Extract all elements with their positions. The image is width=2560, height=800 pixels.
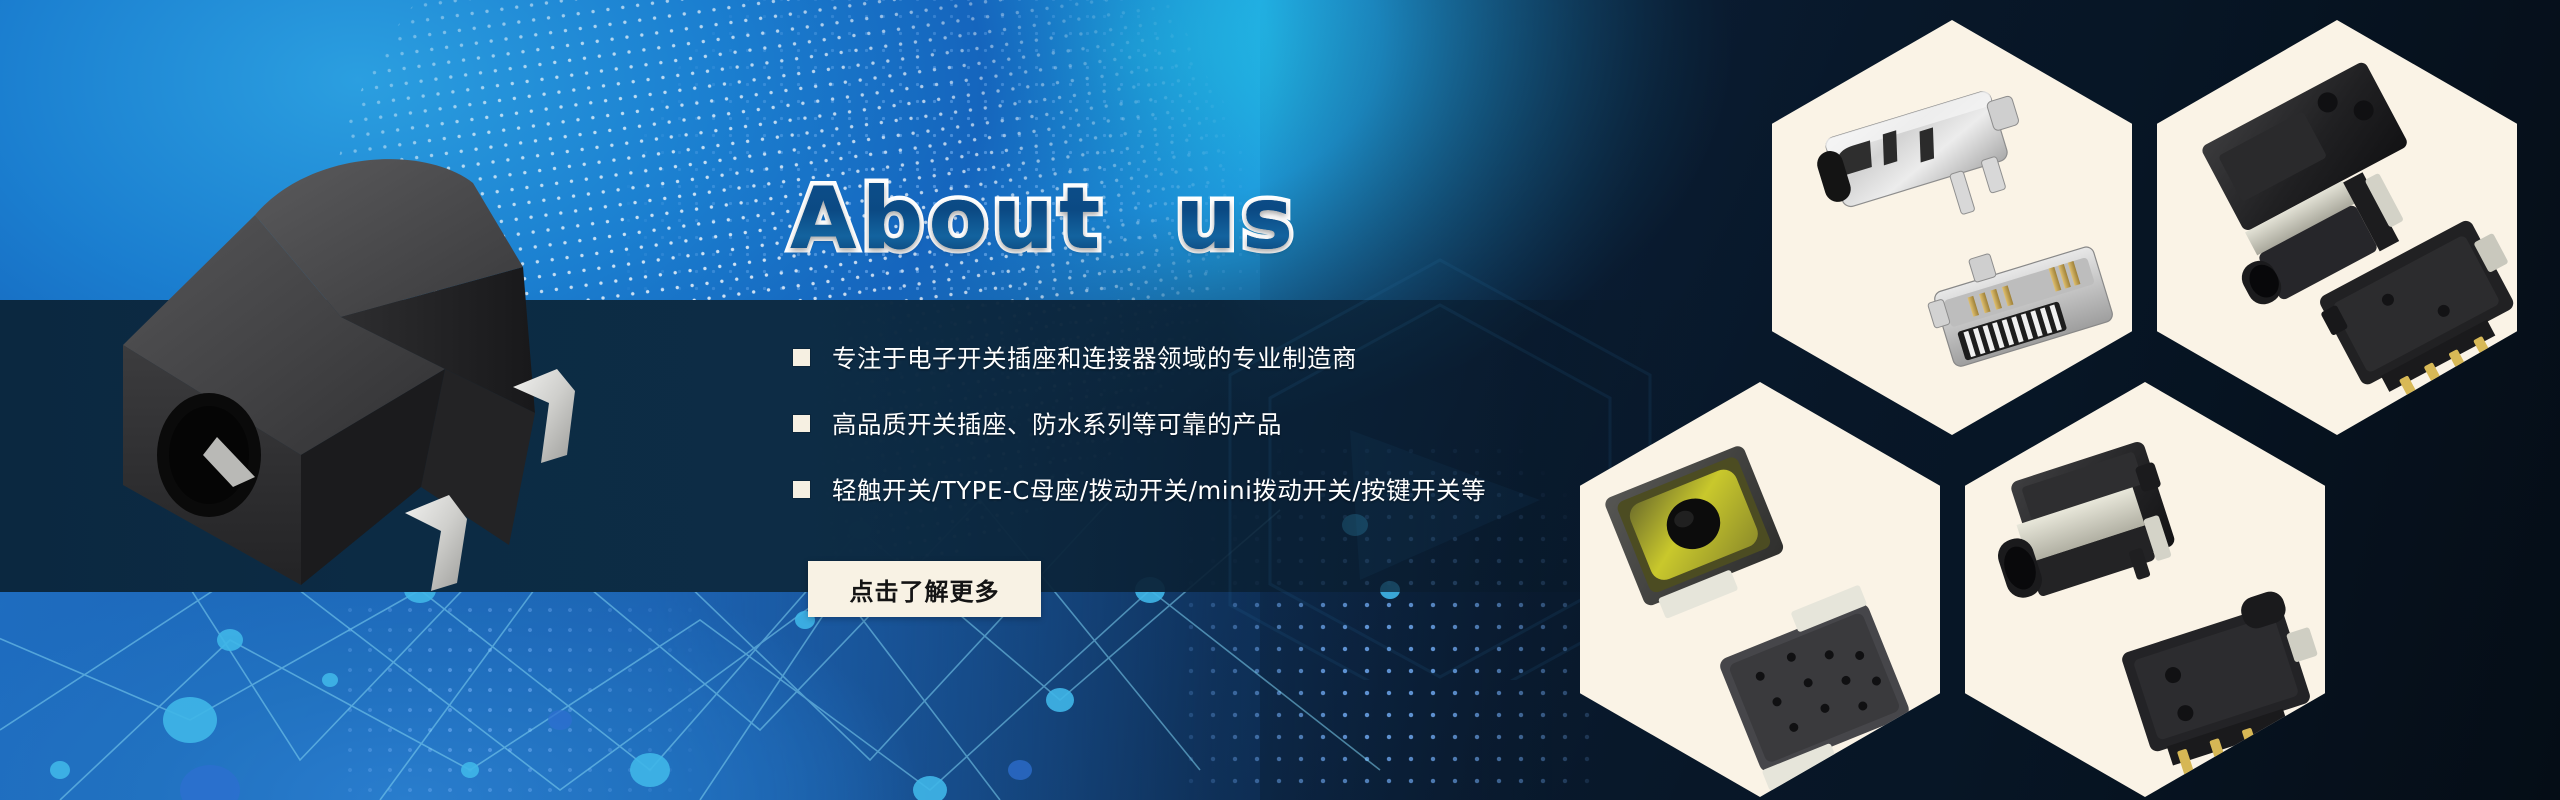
black-audio-jack-connector-image [2157, 20, 2517, 435]
feature-text: 专注于电子开关插座和连接器领域的专业制造商 [832, 340, 1357, 375]
feature-text: 轻触开关/TYPE-C母座/拨动开关/mini拨动开关/按键开关等 [832, 472, 1486, 507]
tactile-switch-image [1580, 382, 1940, 797]
product-hexagon-gallery [1550, 0, 2560, 800]
learn-more-button[interactable]: 点击了解更多 [808, 561, 1041, 617]
page-title: About us [790, 176, 1298, 262]
audio-socket-jack-image [1965, 382, 2325, 797]
learn-more-button-label: 点击了解更多 [850, 572, 1000, 607]
square-bullet-icon [793, 481, 810, 498]
usb-type-c-female-connector-image [1772, 20, 2132, 435]
banner-title-wrap: About us About us [790, 176, 1298, 262]
square-bullet-icon [793, 349, 810, 366]
product-hex-tactile-switch[interactable] [1580, 382, 1940, 797]
about-us-banner: About us About us 专注于电子开关插座和连接器领域的专业制造商 … [0, 0, 2560, 800]
feature-text: 高品质开关插座、防水系列等可靠的产品 [832, 406, 1282, 441]
product-hex-audio-socket[interactable] [1965, 382, 2325, 797]
product-hex-audio-jack[interactable] [2157, 20, 2517, 435]
product-hex-usb-type-c[interactable] [1772, 20, 2132, 435]
square-bullet-icon [793, 415, 810, 432]
dc-power-jack-connector [105, 155, 625, 635]
